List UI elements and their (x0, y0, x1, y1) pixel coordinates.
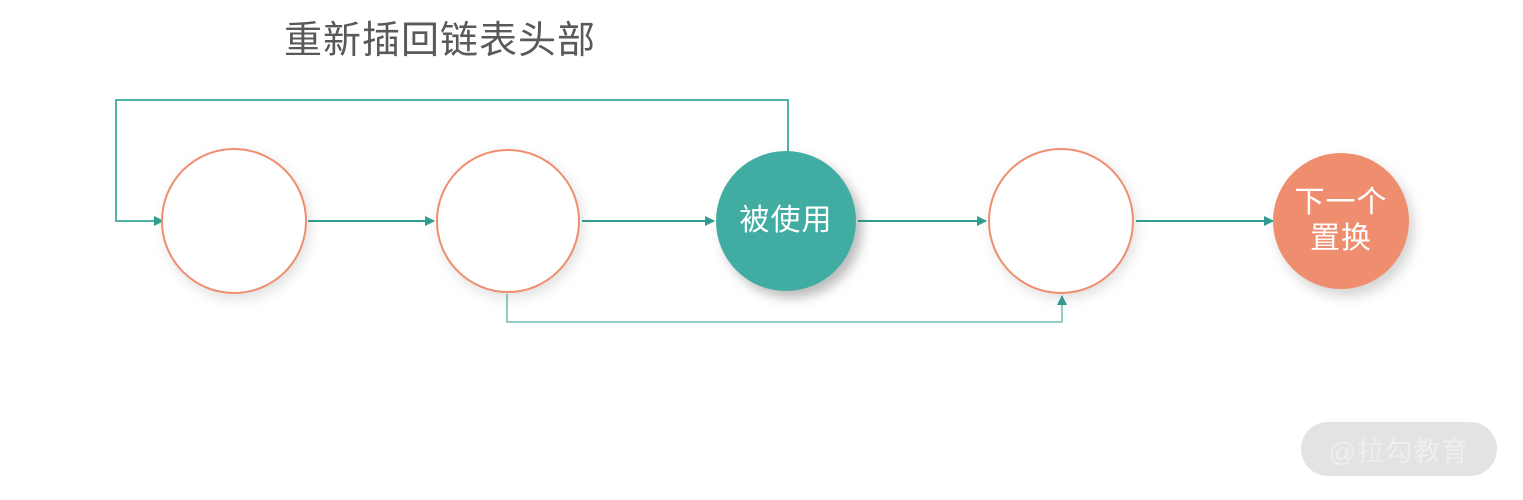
next-evict-line-1: 下一个 (1295, 186, 1388, 219)
list-node-next-evict-label: 下一个 置换 (1289, 185, 1394, 257)
list-node-used-label: 被使用 (734, 203, 839, 239)
diagram-canvas: 重新插回链表头部 被使用 下一个 置换 @拉勾教育 (0, 0, 1523, 500)
list-node-2[interactable] (436, 149, 580, 293)
next-evict-line-2: 置换 (1310, 222, 1372, 255)
page-title: 重新插回链表头部 (284, 18, 596, 64)
list-node-used[interactable]: 被使用 (716, 151, 856, 291)
list-node-next-evict[interactable]: 下一个 置换 (1273, 153, 1409, 289)
list-node-1[interactable] (161, 148, 307, 294)
list-node-4[interactable] (988, 148, 1134, 294)
bottom-return-path (507, 294, 1062, 322)
watermark-badge: @拉勾教育 (1301, 422, 1497, 476)
watermark-label: @拉勾教育 (1329, 430, 1469, 469)
